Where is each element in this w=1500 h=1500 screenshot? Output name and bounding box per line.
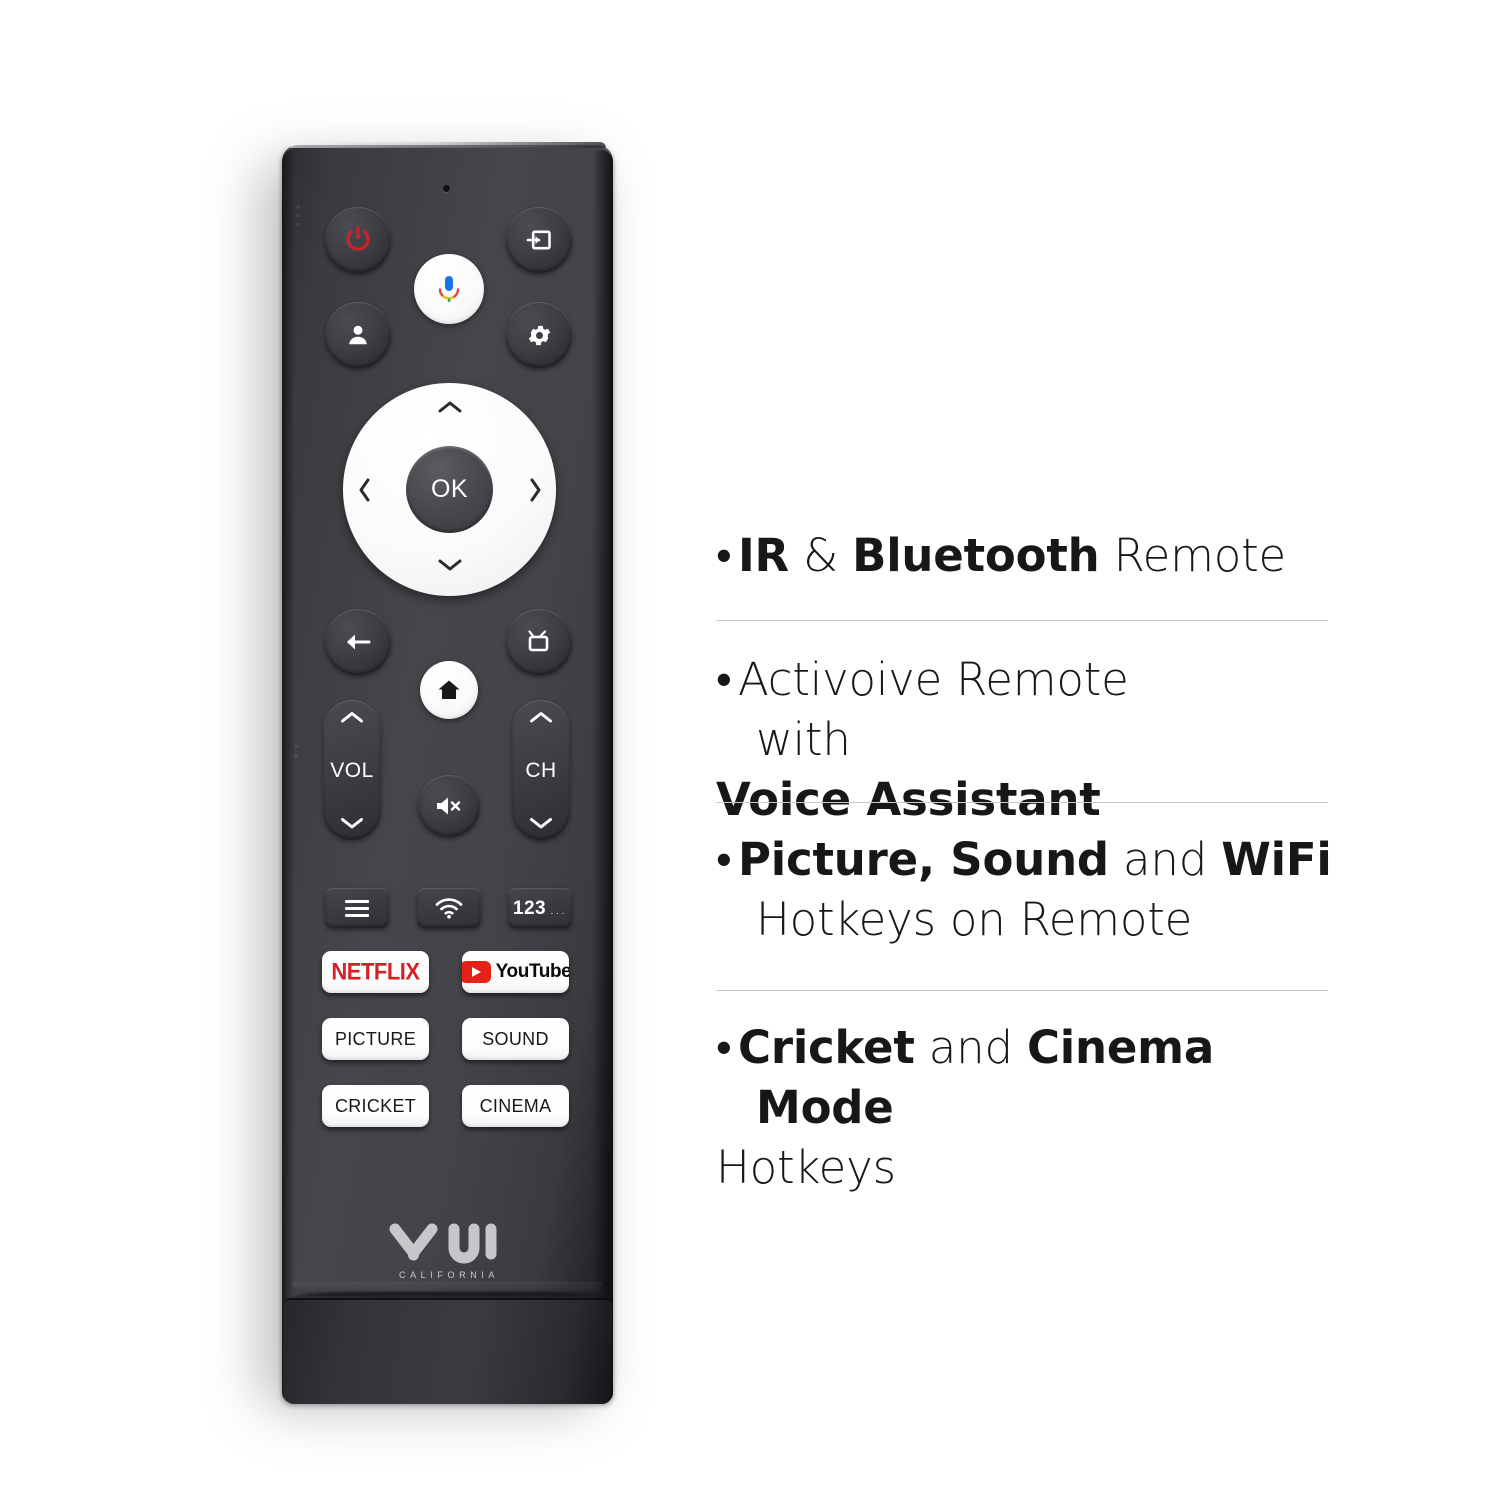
home-icon (436, 678, 462, 702)
feature-bullet: • (716, 830, 738, 890)
cinema-hotkey-label: CINEMA (480, 1096, 552, 1117)
youtube-play-icon (462, 961, 491, 983)
feature-bullet: • (716, 527, 738, 585)
chevron-up-icon (437, 399, 463, 415)
feature-text-span: Voice Assistant (716, 773, 1101, 826)
feature-item-cricket-cinema: •Cricket and CinemaMode Hotkeys (716, 1018, 1376, 1198)
wifi-button[interactable] (417, 888, 481, 928)
volume-label: VOL (330, 759, 374, 783)
numeric-keypad-icon: 123 ... (513, 899, 567, 918)
feature-text-span: Hotkeys (716, 1141, 896, 1194)
user-profile-button[interactable] (325, 302, 391, 368)
back-arrow-icon (343, 629, 373, 655)
dpad-up-button[interactable] (436, 393, 464, 419)
feature-item-picture-sound-wifi: •Picture, Sound and WiFiHotkeys on Remot… (716, 830, 1376, 950)
chevron-down-icon (437, 557, 463, 573)
feature-text-span: Cinema (1027, 1021, 1214, 1074)
settings-button[interactable] (506, 302, 572, 368)
feature-text-span: Picture, Sound (738, 833, 1109, 886)
power-icon (343, 225, 373, 255)
numeric-keypad-label: 123 (513, 898, 546, 919)
numeric-keypad-button[interactable]: 123 ... (508, 888, 572, 928)
cricket-hotkey-button[interactable]: CRICKET (322, 1085, 429, 1127)
ok-button[interactable]: OK (406, 446, 493, 533)
power-button[interactable] (325, 207, 391, 273)
feature-text-line: Mode (716, 1078, 1376, 1138)
vu-logo-subtext: CALIFORNIA (382, 1270, 512, 1280)
remote-battery-door (284, 1298, 612, 1404)
google-assistant-mic-button[interactable] (414, 254, 484, 324)
input-source-icon (525, 226, 553, 254)
feature-divider-3 (716, 990, 1328, 991)
remote-right-bevel (592, 150, 613, 1400)
chevron-left-icon (357, 477, 373, 503)
cricket-hotkey-label: CRICKET (335, 1096, 416, 1117)
feature-text-3: •Picture, Sound and WiFiHotkeys on Remot… (716, 830, 1376, 950)
numeric-keypad-dots: ... (551, 906, 568, 916)
channel-rocker[interactable]: CH (512, 700, 570, 840)
remote-side-print-mid: ≡≡ (294, 743, 324, 761)
hamburger-menu-icon (345, 896, 369, 921)
sound-hotkey-label: SOUND (482, 1029, 549, 1050)
feature-text-span: Cricket (738, 1021, 915, 1074)
dpad-right-button[interactable] (521, 477, 549, 507)
back-button[interactable] (325, 609, 391, 675)
input-source-button[interactable] (506, 207, 572, 273)
vu-logo-icon (386, 1222, 508, 1264)
feature-text-span: WiFi (1221, 833, 1331, 886)
cinema-hotkey-button[interactable]: CINEMA (462, 1085, 569, 1127)
sound-hotkey-button[interactable]: SOUND (462, 1018, 569, 1060)
feature-graphic-canvas: ≡≡≡ ≡≡ (0, 0, 1500, 1500)
feature-text-span: Remote (1099, 529, 1286, 582)
remote-left-bevel (282, 150, 295, 1400)
menu-button[interactable] (325, 888, 389, 928)
gear-icon (526, 322, 553, 349)
picture-hotkey-label: PICTURE (335, 1029, 416, 1050)
remote-top-lip (290, 142, 606, 148)
channel-up-icon[interactable] (529, 708, 553, 728)
volume-up-icon[interactable] (340, 708, 364, 728)
feature-item-activoive-voice: •Activoive Remotewith Voice Assistant (716, 650, 1356, 830)
volume-down-icon[interactable] (340, 814, 364, 834)
ir-sensor-dot (443, 185, 450, 192)
youtube-button[interactable]: YouTube (462, 951, 569, 993)
netflix-button[interactable]: NETFLIX (322, 951, 429, 993)
feature-text-span: and (1109, 833, 1221, 886)
user-profile-icon (345, 322, 371, 348)
volume-rocker[interactable]: VOL (323, 700, 381, 840)
feature-text-span: Activoive Remote (738, 653, 1129, 706)
feature-item-ir-bluetooth: •IR & Bluetooth Remote (716, 527, 1356, 585)
netflix-label: NETFLIX (331, 958, 419, 986)
mute-button[interactable] (418, 775, 480, 837)
feature-divider-2 (716, 802, 1328, 803)
wifi-icon (434, 896, 464, 920)
google-assistant-mic-icon (434, 272, 464, 306)
ok-button-label: OK (431, 475, 468, 504)
live-tv-button[interactable] (506, 609, 572, 675)
picture-hotkey-button[interactable]: PICTURE (322, 1018, 429, 1060)
feature-divider-1 (716, 620, 1328, 621)
remote-side-print-top: ≡≡≡ (296, 203, 326, 230)
live-tv-icon (525, 629, 553, 655)
feature-text-line: with (716, 710, 1356, 770)
feature-text-line: Hotkeys on Remote (716, 890, 1376, 950)
feature-text-1: •IR & Bluetooth Remote (716, 527, 1356, 585)
home-button[interactable] (420, 661, 478, 719)
vu-brand-logo: CALIFORNIA (382, 1222, 512, 1280)
feature-text-span: Bluetooth (852, 529, 1099, 582)
chevron-right-icon (527, 477, 543, 503)
feature-text-span: IR (738, 529, 789, 582)
feature-text-span: Hotkeys on Remote (756, 893, 1192, 946)
feature-text-span: with (756, 713, 851, 766)
feature-text-4: •Cricket and CinemaMode Hotkeys (716, 1018, 1376, 1198)
youtube-logo: YouTube (462, 961, 569, 983)
feature-text-span: Mode (756, 1081, 894, 1134)
dpad-down-button[interactable] (436, 551, 464, 577)
feature-text-span: & (789, 529, 852, 582)
channel-label: CH (525, 759, 556, 783)
dpad-left-button[interactable] (351, 477, 379, 507)
feature-text-span: and (915, 1021, 1027, 1074)
youtube-label: YouTube (496, 961, 569, 983)
channel-down-icon[interactable] (529, 814, 553, 834)
feature-text-2: •Activoive Remotewith Voice Assistant (716, 650, 1356, 830)
feature-bullet: • (716, 650, 738, 710)
mute-speaker-icon (434, 794, 464, 818)
feature-bullet: • (716, 1018, 738, 1078)
